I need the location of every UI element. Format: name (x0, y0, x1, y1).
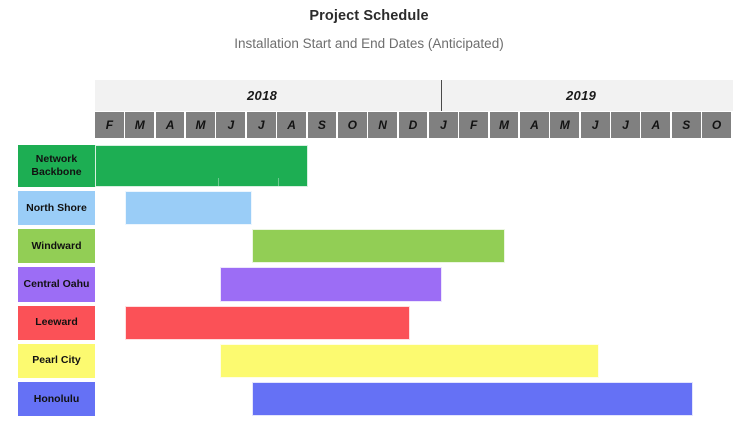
month-tick-6: A (277, 112, 306, 138)
month-tick-16: J (581, 112, 610, 138)
task-bar-network-backbone[interactable] (95, 145, 308, 187)
task-row: Central Oahu (0, 265, 738, 303)
month-tick-8: O (338, 112, 367, 138)
month-tick-17: J (611, 112, 640, 138)
task-bar-north-shore[interactable] (125, 191, 252, 225)
task-row: Honolulu (0, 380, 738, 418)
task-label-network-backbone[interactable]: Network Backbone (18, 145, 95, 187)
year-label-2019: 2019 (429, 80, 733, 111)
month-tick-15: M (550, 112, 579, 138)
month-tick-1: M (125, 112, 154, 138)
gantt-chart: Project Schedule Installation Start and … (0, 0, 738, 431)
task-row: Windward (0, 227, 738, 265)
year-divider-line (441, 80, 442, 111)
month-tick-4: J (216, 112, 245, 138)
task-label-central-oahu[interactable]: Central Oahu (18, 267, 95, 301)
task-row: North Shore (0, 189, 738, 227)
task-rows: Network BackboneNorth ShoreWindwardCentr… (0, 143, 738, 413)
month-tick-13: M (490, 112, 519, 138)
month-tick-18: A (641, 112, 670, 138)
month-tick-20: O (702, 112, 731, 138)
task-bar-windward[interactable] (252, 229, 505, 263)
task-label-honolulu[interactable]: Honolulu (18, 382, 95, 416)
bar-column-tick (218, 178, 219, 186)
month-tick-14: A (520, 112, 549, 138)
task-bar-leeward[interactable] (125, 306, 410, 340)
year-label-2018: 2018 (95, 80, 429, 111)
task-row: Network Backbone (0, 143, 738, 189)
task-label-pearl-city[interactable]: Pearl City (18, 344, 95, 378)
month-tick-2: A (156, 112, 185, 138)
task-label-north-shore[interactable]: North Shore (18, 191, 95, 225)
bar-column-tick (278, 178, 279, 186)
task-row: Pearl City (0, 342, 738, 380)
chart-title: Project Schedule (0, 0, 738, 24)
month-tick-7: S (308, 112, 337, 138)
month-tick-11: J (429, 112, 458, 138)
task-bar-pearl-city[interactable] (220, 344, 599, 378)
month-tick-5: J (247, 112, 276, 138)
task-row: Leeward (0, 304, 738, 342)
month-tick-19: S (672, 112, 701, 138)
month-tick-10: D (399, 112, 428, 138)
chart-header: Project Schedule Installation Start and … (0, 0, 738, 50)
task-bar-central-oahu[interactable] (220, 267, 442, 301)
task-label-windward[interactable]: Windward (18, 229, 95, 263)
month-tick-12: F (459, 112, 488, 138)
task-label-leeward[interactable]: Leeward (18, 306, 95, 340)
year-header-row: 20182019 (95, 80, 733, 111)
task-bar-honolulu[interactable] (252, 382, 693, 416)
chart-subtitle: Installation Start and End Dates (Antici… (0, 24, 738, 51)
month-tick-0: F (95, 112, 124, 138)
month-tick-9: N (368, 112, 397, 138)
month-header-row: FMAMJJASONDJFMAMJJASO (95, 112, 733, 138)
month-tick-3: M (186, 112, 215, 138)
